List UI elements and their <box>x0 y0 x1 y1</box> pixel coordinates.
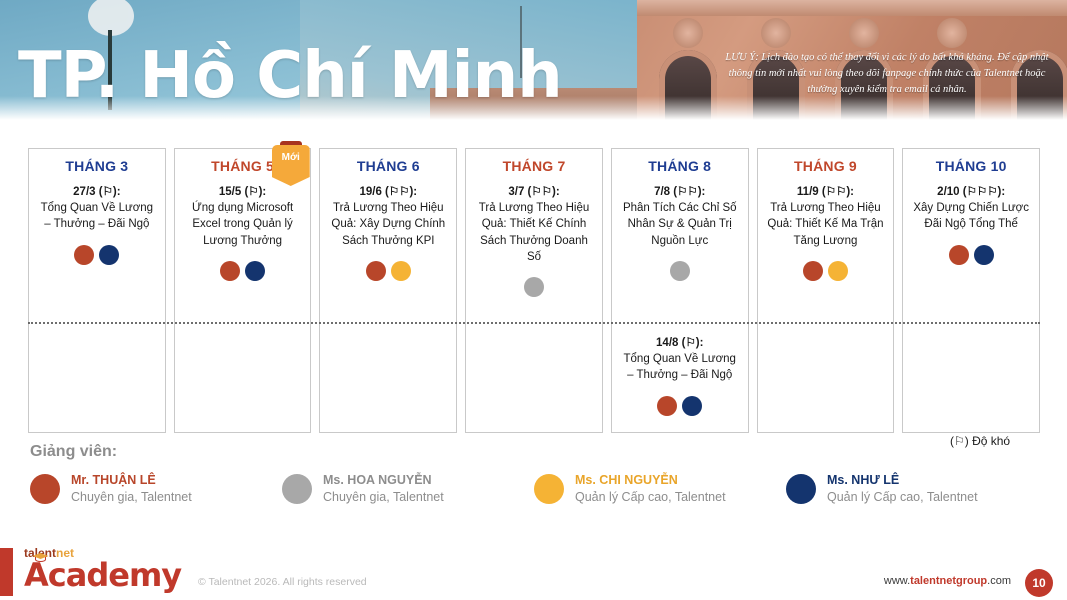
graduation-cap-icon <box>32 552 49 562</box>
hero-note: LƯU Ý: Lịch đào tạo có thể thay đổi vì c… <box>719 50 1055 97</box>
instructor-color-dot <box>282 474 312 504</box>
course-title: Ứng dụng Microsoft Excel trong Quản lý L… <box>182 200 304 249</box>
instructor-dots <box>619 396 741 416</box>
building-medallion <box>849 18 879 48</box>
course-date: 7/8 (⚐⚐): <box>619 184 741 198</box>
course-title: Phân Tích Các Chỉ Số Nhân Sự & Quản Trị … <box>619 200 741 249</box>
course-entry[interactable]: 11/9 (⚐⚐):Trả Lương Theo Hiệu Quả: Thiết… <box>758 174 894 281</box>
building-medallion <box>673 18 703 48</box>
course-entry[interactable]: 2/10 (⚐⚐⚐):Xây Dựng Chiến Lược Đãi Ngộ T… <box>903 174 1039 265</box>
month-header: THÁNG 10 <box>903 149 1039 174</box>
building-medallion <box>761 18 791 48</box>
course-entry[interactable]: 7/8 (⚐⚐):Phân Tích Các Chỉ Số Nhân Sự & … <box>612 174 748 281</box>
building-cornice <box>637 0 1067 16</box>
month-header: THÁNG 9 <box>758 149 894 174</box>
timeline-board: THÁNG 327/3 (⚐):Tổng Quan Về Lương – Thư… <box>28 148 1040 433</box>
month-card[interactable]: THÁNG 87/8 (⚐⚐):Phân Tích Các Chỉ Số Nhâ… <box>611 148 749 433</box>
course-date: 15/5 (⚐): <box>182 184 304 198</box>
month-header: THÁNG 6 <box>320 149 456 174</box>
course-entry[interactable]: 19/6 (⚐⚐):Trả Lương Theo Hiệu Quả: Xây D… <box>320 174 456 281</box>
course-title: Xây Dựng Chiến Lược Đãi Ngộ Tổng Thể <box>910 200 1032 233</box>
month-header: THÁNG 8 <box>612 149 748 174</box>
course-title: Trả Lương Theo Hiệu Quả: Thiết Kế Chính … <box>473 200 595 265</box>
month-header: THÁNG 3 <box>29 149 165 174</box>
month-card[interactable]: THÁNG 73/7 (⚐⚐):Trả Lương Theo Hiệu Quả:… <box>465 148 603 433</box>
instructor-color-dot <box>30 474 60 504</box>
course-entry[interactable]: 3/7 (⚐⚐):Trả Lương Theo Hiệu Quả: Thiết … <box>466 174 602 297</box>
new-badge-label: Mới <box>282 152 300 163</box>
new-badge-ribbon: Mới <box>272 145 310 186</box>
instructor-dot <box>245 261 265 281</box>
instructor-info: Mr. THUẬN LÊChuyên gia, Talentnet <box>71 473 192 505</box>
footer: talentnet Academy © Talentnet 2026. All … <box>0 544 1067 600</box>
month-card[interactable]: THÁNG 911/9 (⚐⚐):Trả Lương Theo Hiệu Quả… <box>757 148 895 433</box>
month-card[interactable]: THÁNG 619/6 (⚐⚐):Trả Lương Theo Hiệu Quả… <box>319 148 457 433</box>
site-brand: talentnetgroup <box>910 575 987 587</box>
instructor-dot <box>99 245 119 265</box>
instructor-item: Ms. HOA NGUYỄNChuyên gia, Talentnet <box>282 473 534 505</box>
talentnet-academy-logo: talentnet Academy <box>24 547 194 593</box>
instructor-item: Ms. CHI NGUYỄNQuản lý Cấp cao, Talentnet <box>534 473 786 505</box>
course-title: Trả Lương Theo Hiệu Quả: Xây Dựng Chính … <box>327 200 449 249</box>
month-card[interactable]: MớiTHÁNG 515/5 (⚐):Ứng dụng Microsoft Ex… <box>174 148 312 433</box>
instructor-dots <box>619 261 741 281</box>
instructor-dot <box>366 261 386 281</box>
instructor-dot <box>949 245 969 265</box>
instructor-dot <box>828 261 848 281</box>
slide: TP. Hồ Chí Minh LƯU Ý: Lịch đào tạo có t… <box>0 0 1067 600</box>
copyright-text: © Talentnet 2026. All rights reserved <box>198 576 367 588</box>
page-number-badge: 10 <box>1025 569 1053 597</box>
instructor-dots <box>182 261 304 281</box>
instructor-dots <box>327 261 449 281</box>
site-suffix: .com <box>987 575 1011 587</box>
month-card[interactable]: THÁNG 327/3 (⚐):Tổng Quan Về Lương – Thư… <box>28 148 166 433</box>
course-date: 27/3 (⚐): <box>36 184 158 198</box>
page-title: TP. Hồ Chí Minh <box>18 44 562 108</box>
course-date: 11/9 (⚐⚐): <box>765 184 887 198</box>
instructor-dot <box>220 261 240 281</box>
instructors-title: Giảng viên: <box>30 443 1040 461</box>
instructor-role: Quản lý Cấp cao, Talentnet <box>827 489 978 505</box>
instructor-item: Ms. NHƯ LÊQuản lý Cấp cao, Talentnet <box>786 473 1038 505</box>
instructor-dots <box>473 277 595 297</box>
instructor-color-dot <box>534 474 564 504</box>
instructor-color-dot <box>786 474 816 504</box>
course-date: 14/8 (⚐): <box>619 335 741 349</box>
timeline-divider <box>28 322 1040 324</box>
instructor-role: Quản lý Cấp cao, Talentnet <box>575 489 726 505</box>
instructor-info: Ms. CHI NGUYỄNQuản lý Cấp cao, Talentnet <box>575 473 726 505</box>
course-date: 3/7 (⚐⚐): <box>473 184 595 198</box>
instructor-dot <box>524 277 544 297</box>
instructor-name: Mr. THUẬN LÊ <box>71 473 192 489</box>
instructor-dot <box>391 261 411 281</box>
instructor-dots <box>910 245 1032 265</box>
new-badge: Mới <box>272 141 310 186</box>
site-prefix: www. <box>884 575 910 587</box>
instructor-name: Ms. NHƯ LÊ <box>827 473 978 489</box>
instructor-dot <box>803 261 823 281</box>
course-entry[interactable]: 15/5 (⚐):Ứng dụng Microsoft Excel trong … <box>175 174 311 281</box>
instructor-role: Chuyên gia, Talentnet <box>323 489 444 505</box>
building-medallion <box>937 18 967 48</box>
instructor-role: Chuyên gia, Talentnet <box>71 489 192 505</box>
instructors-section: Giảng viên: Mr. THUẬN LÊChuyên gia, Tale… <box>30 443 1040 505</box>
instructor-dots <box>36 245 158 265</box>
instructor-dots <box>765 261 887 281</box>
course-title: Tổng Quan Về Lương – Thưởng – Đãi Ngộ <box>619 351 741 384</box>
course-title: Trả Lương Theo Hiệu Quả: Thiết Kế Ma Trậ… <box>765 200 887 249</box>
instructor-list: Mr. THUẬN LÊChuyên gia, TalentnetMs. HOA… <box>30 473 1040 505</box>
course-entry[interactable]: 27/3 (⚐):Tổng Quan Về Lương – Thưởng – Đ… <box>29 174 165 265</box>
hero-banner: TP. Hồ Chí Minh LƯU Ý: Lịch đào tạo có t… <box>0 0 1067 122</box>
instructor-name: Ms. HOA NGUYỄN <box>323 473 444 489</box>
instructor-dot <box>74 245 94 265</box>
instructor-name: Ms. CHI NGUYỄN <box>575 473 726 489</box>
instructor-info: Ms. HOA NGUYỄNChuyên gia, Talentnet <box>323 473 444 505</box>
instructor-dot <box>657 396 677 416</box>
instructor-info: Ms. NHƯ LÊQuản lý Cấp cao, Talentnet <box>827 473 978 505</box>
instructor-dot <box>682 396 702 416</box>
month-header: THÁNG 7 <box>466 149 602 174</box>
course-date: 19/6 (⚐⚐): <box>327 184 449 198</box>
month-card-list: THÁNG 327/3 (⚐):Tổng Quan Về Lương – Thư… <box>28 148 1040 433</box>
website-url: www.talentnetgroup.com <box>884 575 1011 587</box>
month-card[interactable]: THÁNG 102/10 (⚐⚐⚐):Xây Dựng Chiến Lược Đ… <box>902 148 1040 433</box>
instructor-dot <box>974 245 994 265</box>
course-title: Tổng Quan Về Lương – Thưởng – Đãi Ngộ <box>36 200 158 233</box>
logo-academy-text: Academy <box>24 559 194 593</box>
course-date: 2/10 (⚐⚐⚐): <box>910 184 1032 198</box>
footer-accent-bar <box>0 548 13 596</box>
course-entry[interactable]: 14/8 (⚐):Tổng Quan Về Lương – Thưởng – Đ… <box>612 321 748 416</box>
instructor-dot <box>670 261 690 281</box>
instructor-item: Mr. THUẬN LÊChuyên gia, Talentnet <box>30 473 282 505</box>
